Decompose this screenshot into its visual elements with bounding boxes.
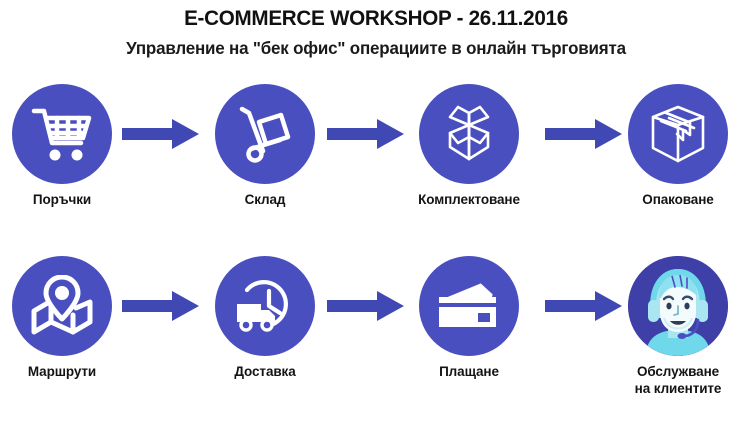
flow-node-warehouse-circle	[215, 84, 315, 184]
process-flow-row-2: Маршрути Доставка Плащане	[0, 256, 752, 406]
flow-node-customer-support[interactable]: Обслужване на клиентите	[608, 256, 748, 397]
map-route-icon	[29, 275, 95, 337]
arrow-orders-to-warehouse	[122, 118, 200, 150]
flow-node-picking-label: Комплектоване	[399, 191, 539, 208]
delivery-truck-clock-icon	[233, 276, 297, 336]
flow-node-picking-circle	[419, 84, 519, 184]
credit-cards-icon	[436, 280, 502, 332]
flow-node-routes[interactable]: Маршрути	[0, 256, 132, 380]
flow-node-delivery-label: Доставка	[195, 363, 335, 380]
arrow-routes-to-delivery	[122, 290, 200, 322]
shopping-cart-icon	[31, 105, 93, 163]
header: E-COMMERCE WORKSHOP - 26.11.2016 Управле…	[0, 0, 752, 59]
closed-box-icon	[649, 104, 707, 164]
flow-node-packing-label: Опаковане	[608, 191, 748, 208]
flow-node-customer-support-label: Обслужване на клиентите	[608, 363, 748, 397]
flow-node-warehouse-label: Склад	[195, 191, 335, 208]
support-agent-icon	[628, 256, 728, 356]
flow-node-warehouse[interactable]: Склад	[195, 84, 335, 208]
flow-node-payment-label: Плащане	[399, 363, 539, 380]
flow-node-orders-label: Поръчки	[0, 191, 132, 208]
flow-node-routes-label: Маршрути	[0, 363, 132, 380]
flow-node-payment[interactable]: Плащане	[399, 256, 539, 380]
flow-node-routes-circle	[12, 256, 112, 356]
process-flow-row-1: Поръчки Склад	[0, 84, 752, 234]
page-title: E-COMMERCE WORKSHOP - 26.11.2016	[15, 0, 737, 31]
flow-node-delivery[interactable]: Доставка	[195, 256, 335, 380]
page-subtitle: Управление на "бек офис" операциите в он…	[11, 31, 740, 59]
flow-node-picking[interactable]: Комплектоване	[399, 84, 539, 208]
flow-node-orders[interactable]: Поръчки	[0, 84, 132, 208]
flow-node-packing[interactable]: Опаковане	[608, 84, 748, 208]
flow-node-packing-circle	[628, 84, 728, 184]
flow-node-orders-circle	[12, 84, 112, 184]
flow-node-delivery-circle	[215, 256, 315, 356]
flow-node-customer-support-circle	[628, 256, 728, 356]
hand-truck-icon	[235, 104, 295, 164]
arrow-warehouse-to-picking	[327, 118, 405, 150]
arrow-delivery-to-payment	[327, 290, 405, 322]
flow-node-payment-circle	[419, 256, 519, 356]
open-box-icon	[438, 105, 500, 163]
